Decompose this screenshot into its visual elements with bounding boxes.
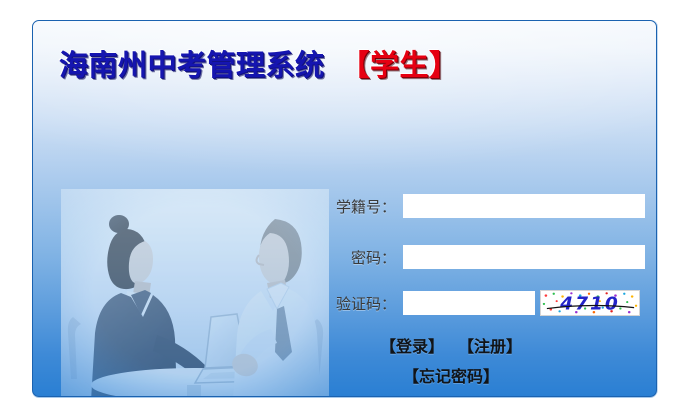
- form-row-captcha: 验证码：: [306, 290, 640, 316]
- register-button[interactable]: 【注册】: [458, 333, 522, 357]
- captcha-text: 4710: [559, 294, 620, 314]
- captcha-input[interactable]: [403, 291, 535, 315]
- password-label: 密码：: [306, 247, 403, 268]
- student-id-input[interactable]: [403, 194, 645, 218]
- login-panel: 海南州中考管理系统【学生】: [32, 20, 657, 397]
- login-form: 学籍号： 密码： 验证码：: [33, 21, 656, 396]
- password-input[interactable]: [403, 245, 645, 269]
- form-row-password: 密码：: [306, 245, 645, 269]
- captcha-image[interactable]: 4710: [540, 290, 640, 316]
- login-page: 海南州中考管理系统【学生】: [0, 0, 700, 418]
- action-links-primary-row: 【登录】【注册】: [306, 333, 596, 357]
- captcha-label: 验证码：: [306, 293, 403, 314]
- forgot-password-link[interactable]: 【忘记密码】: [403, 363, 499, 387]
- action-links: 【登录】【注册】 【忘记密码】: [306, 333, 596, 387]
- login-button[interactable]: 【登录】: [380, 333, 444, 357]
- action-links-secondary-row: 【忘记密码】: [306, 363, 596, 387]
- student-id-label: 学籍号：: [306, 196, 403, 217]
- form-row-student-id: 学籍号：: [306, 194, 645, 218]
